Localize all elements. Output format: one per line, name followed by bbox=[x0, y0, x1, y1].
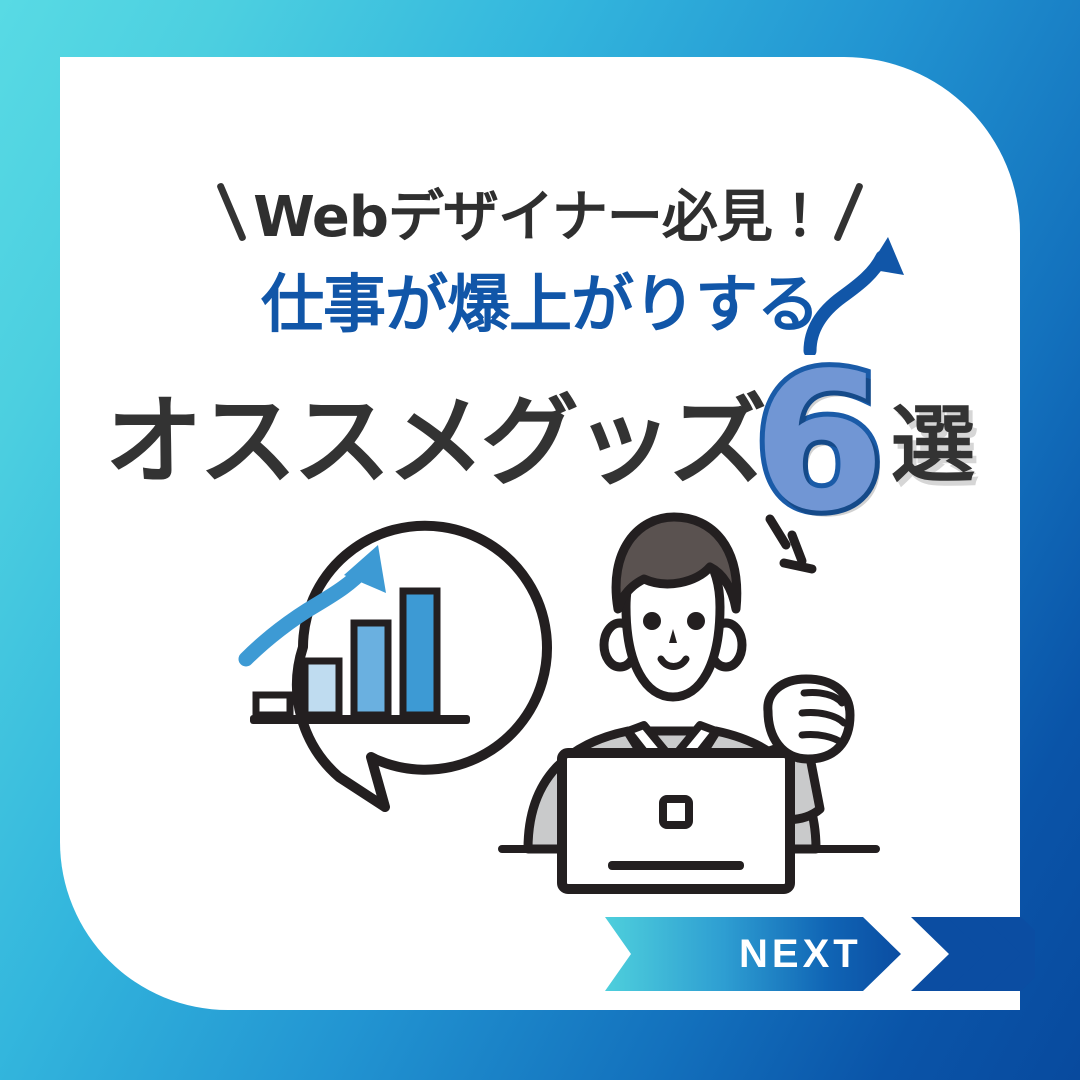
next-label[interactable]: NEXT bbox=[739, 917, 862, 991]
chart-bar-1 bbox=[256, 695, 290, 715]
chart-bar-2 bbox=[305, 661, 339, 715]
headline-suffix-text: 選 bbox=[891, 403, 975, 487]
growth-chart-bubble-icon bbox=[246, 526, 547, 807]
left-slash-icon bbox=[216, 182, 247, 242]
laptop-icon bbox=[562, 753, 790, 889]
catch-copy-row: Webデザイナー必見！ bbox=[60, 169, 1020, 255]
eye-left bbox=[643, 612, 661, 630]
next-banner[interactable]: NEXT bbox=[605, 917, 1035, 991]
right-slash-icon bbox=[833, 182, 864, 242]
headline-main-text: オススメグッズ bbox=[105, 393, 763, 491]
chart-bar-3 bbox=[354, 623, 388, 715]
laptop-touchpad bbox=[663, 799, 689, 825]
headline-number: 6 bbox=[753, 369, 885, 517]
chart-bar-4 bbox=[403, 591, 437, 715]
slide-canvas: Webデザイナー必見！ 仕事が爆上がりする オススメグッズ 6 選 bbox=[0, 0, 1080, 1080]
subheadline-text: 仕事が爆上がりする bbox=[261, 254, 819, 345]
catch-copy-text: Webデザイナー必見！ bbox=[253, 172, 827, 253]
illustration-group bbox=[60, 497, 1020, 927]
eye-right bbox=[687, 612, 705, 630]
raised-fist-icon bbox=[768, 679, 850, 759]
headline-row: オススメグッズ 6 選 bbox=[60, 345, 1020, 505]
emphasis-lines-icon bbox=[770, 519, 812, 569]
white-content-card: Webデザイナー必見！ 仕事が爆上がりする オススメグッズ 6 選 bbox=[60, 57, 1020, 1010]
